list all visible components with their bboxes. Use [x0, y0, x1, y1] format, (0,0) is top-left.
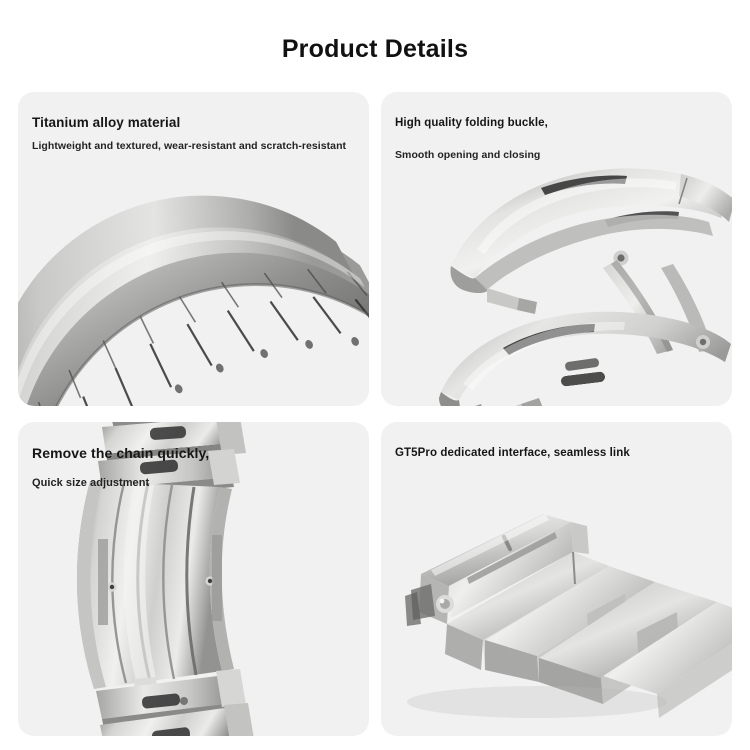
panel-text-block: Titanium alloy material Lightweight and … [32, 114, 359, 153]
panel-text-block: GT5Pro dedicated interface, seamless lin… [395, 444, 722, 469]
panel-titanium-alloy-material[interactable]: Titanium alloy material Lightweight and … [18, 92, 369, 406]
panel-subtitle: Lightweight and textured, wear-resistant… [32, 139, 359, 153]
product-details-grid: Titanium alloy material Lightweight and … [18, 92, 732, 736]
panel-heading: High quality folding buckle, [395, 114, 722, 132]
panel-subtitle: Quick size adjustment [32, 476, 359, 490]
panel-gt5pro-interface[interactable]: GT5Pro dedicated interface, seamless lin… [381, 422, 732, 736]
panel-heading: GT5Pro dedicated interface, seamless lin… [395, 444, 722, 462]
panel-heading: Titanium alloy material [32, 114, 359, 132]
panel-subtitle: Smooth opening and closing [395, 148, 722, 162]
panel-text-block: Remove the chain quickly, Quick size adj… [32, 444, 359, 490]
panel-remove-chain-quickly[interactable]: Remove the chain quickly, Quick size adj… [18, 422, 369, 736]
panel-text-block: High quality folding buckle, Smooth open… [395, 114, 722, 162]
page-title: Product Details [0, 33, 750, 65]
panel-folding-buckle[interactable]: High quality folding buckle, Smooth open… [381, 92, 732, 406]
band-connector-interface-image [381, 422, 732, 736]
panel-heading: Remove the chain quickly, [32, 444, 359, 462]
